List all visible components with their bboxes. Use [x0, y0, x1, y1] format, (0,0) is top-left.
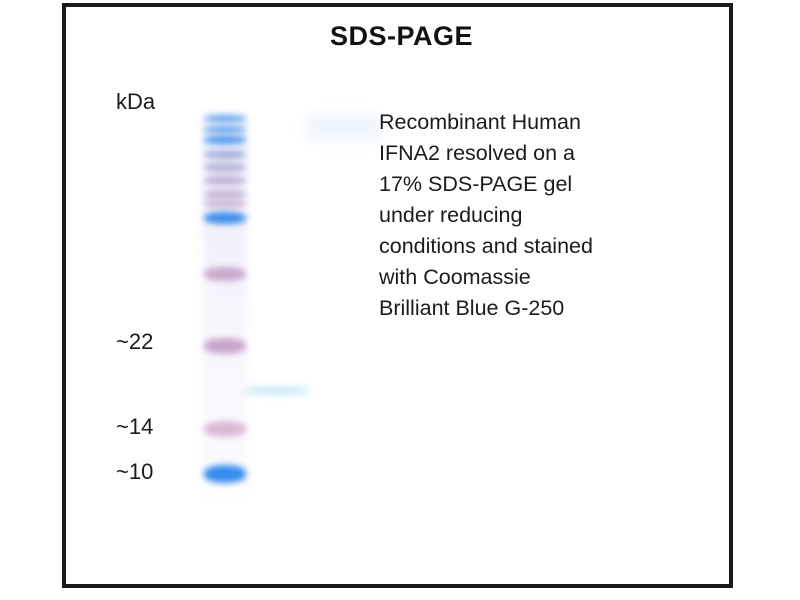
gel-band — [204, 212, 246, 224]
description-line: Recombinant Human — [379, 107, 689, 138]
description-line: under reducing — [379, 200, 689, 231]
sample-lane-wash — [306, 114, 382, 140]
description-line: 17% SDS-PAGE gel — [379, 169, 689, 200]
mw-label-14: ~14 — [116, 414, 153, 440]
gel-band — [204, 465, 246, 483]
gel-band — [204, 190, 246, 199]
gel-band — [204, 126, 246, 133]
gel-band — [204, 421, 246, 437]
gel-band — [204, 176, 246, 185]
figure-root: SDS-PAGE kDa ~22~14~10 Recombinant Human… — [0, 0, 800, 600]
gel-band — [204, 200, 246, 208]
gel-band — [244, 387, 310, 394]
description-line: IFNA2 resolved on a — [379, 138, 689, 169]
description-line: Brilliant Blue G-250 — [379, 293, 689, 324]
mw-label-22: ~22 — [116, 329, 153, 355]
page-title: SDS-PAGE — [66, 21, 737, 52]
gel-band — [204, 338, 246, 354]
gel-band — [204, 163, 246, 172]
mw-label-10: ~10 — [116, 459, 153, 485]
gel-band — [204, 267, 246, 281]
figure-frame: SDS-PAGE kDa ~22~14~10 Recombinant Human… — [62, 3, 733, 588]
gel-band — [204, 150, 246, 159]
gel-band — [204, 115, 246, 122]
gel-band — [204, 136, 246, 144]
axis-unit-label: kDa — [116, 89, 155, 115]
description-text: Recombinant HumanIFNA2 resolved on a17% … — [379, 107, 689, 324]
description-line: with Coomassie — [379, 262, 689, 293]
description-line: conditions and stained — [379, 231, 689, 262]
